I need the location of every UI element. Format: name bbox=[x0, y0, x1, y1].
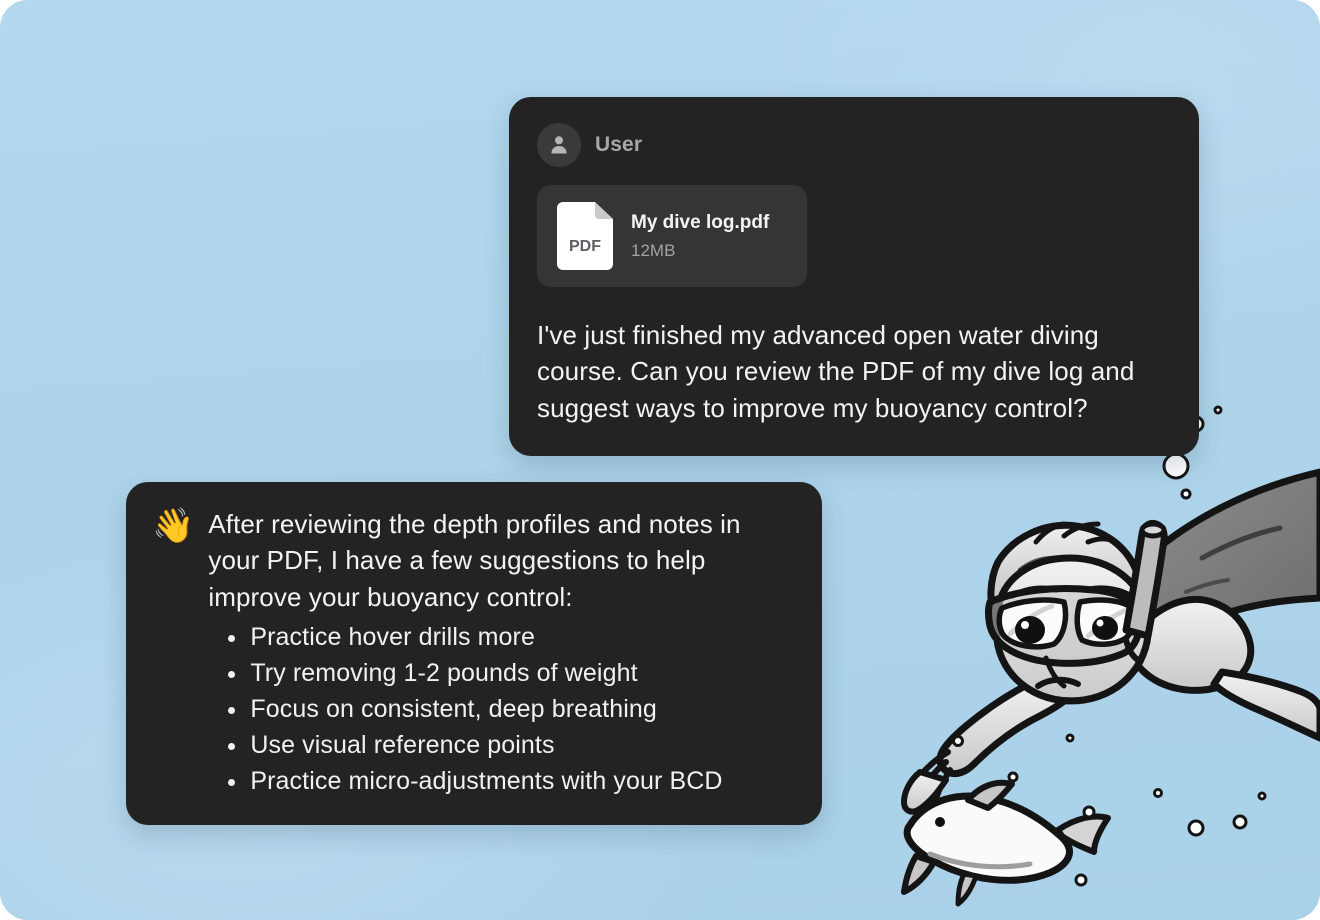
assistant-body: After reviewing the depth profiles and n… bbox=[208, 506, 794, 799]
list-item: Practice hover drills more bbox=[208, 619, 794, 655]
assistant-content-row: 👋 After reviewing the depth profiles and… bbox=[152, 506, 794, 799]
list-item: Practice micro-adjustments with your BCD bbox=[208, 763, 794, 799]
pdf-file-icon: PDF bbox=[557, 202, 613, 270]
attachment-filename: My dive log.pdf bbox=[631, 212, 769, 234]
list-item: Use visual reference points bbox=[208, 727, 794, 763]
user-header: User bbox=[537, 123, 1171, 167]
user-name-label: User bbox=[595, 133, 642, 157]
attachment-meta: My dive log.pdf 12MB bbox=[631, 212, 769, 261]
pdf-attachment-card[interactable]: PDF My dive log.pdf 12MB bbox=[537, 185, 807, 287]
assistant-message-bubble: 👋 After reviewing the depth profiles and… bbox=[126, 482, 822, 825]
list-item: Try removing 1-2 pounds of weight bbox=[208, 655, 794, 691]
user-message-text: I've just finished my advanced open wate… bbox=[537, 317, 1171, 426]
waving-hand-emoji: 👋 bbox=[152, 508, 194, 545]
assistant-intro-text: After reviewing the depth profiles and n… bbox=[208, 506, 794, 615]
svg-text:PDF: PDF bbox=[569, 238, 601, 255]
user-message-bubble: User PDF My dive log.pdf 12MB I've just … bbox=[509, 97, 1199, 456]
chat-screen: User PDF My dive log.pdf 12MB I've just … bbox=[0, 0, 1320, 920]
attachment-filesize: 12MB bbox=[631, 241, 769, 261]
list-item: Focus on consistent, deep breathing bbox=[208, 691, 794, 727]
person-avatar-icon bbox=[537, 123, 581, 167]
buoyancy-tips-list: Practice hover drills more Try removing … bbox=[208, 619, 794, 799]
